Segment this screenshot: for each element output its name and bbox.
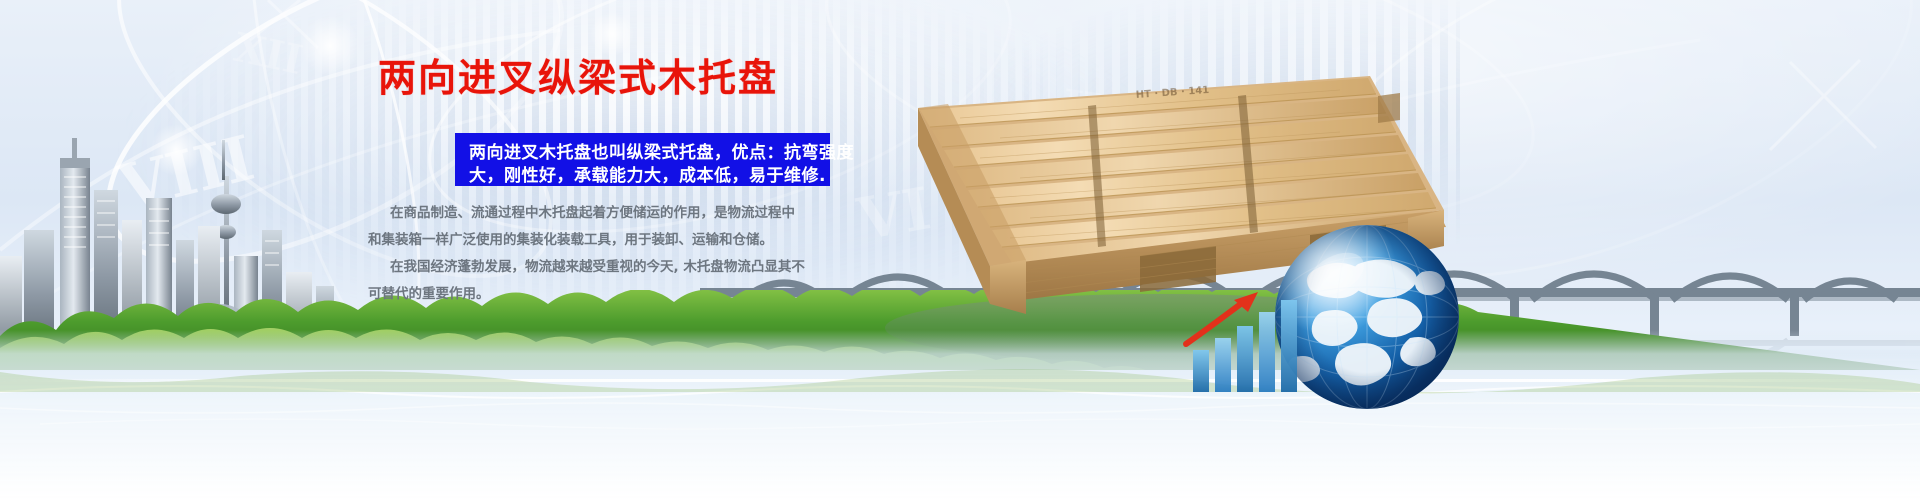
description-line-2: 和集装箱一样广泛使用的集装化装载工具，用于装卸、运输和仓储。: [368, 227, 868, 254]
highlight-line-1: 两向进叉木托盘也叫纵梁式托盘，优点：抗弯强度: [469, 138, 854, 163]
product-banner: VIII XII VI IX: [0, 0, 1920, 500]
product-description-paragraph: 在商品制造、流通过程中木托盘起着方便储运的作用，是物流过程中 和集装箱一样广泛使…: [368, 200, 868, 308]
highlight-description-box: 两向进叉木托盘也叫纵梁式托盘，优点：抗弯强度 大，刚性好，承载能力大，成本低，易…: [455, 133, 830, 186]
description-line-1: 在商品制造、流通过程中木托盘起着方便储运的作用，是物流过程中: [368, 200, 868, 227]
blue-earth-globe: [1262, 212, 1472, 422]
description-line-4: 可替代的重要作用。: [368, 281, 868, 308]
description-line-3: 在我国经济蓬勃发展，物流越来越受重视的今天, 木托盘物流凸显其不: [368, 254, 868, 281]
page-title: 两向进叉纵梁式木托盘: [378, 56, 778, 100]
highlight-line-2: 大，刚性好，承载能力大，成本低，易于维修.: [469, 161, 826, 186]
